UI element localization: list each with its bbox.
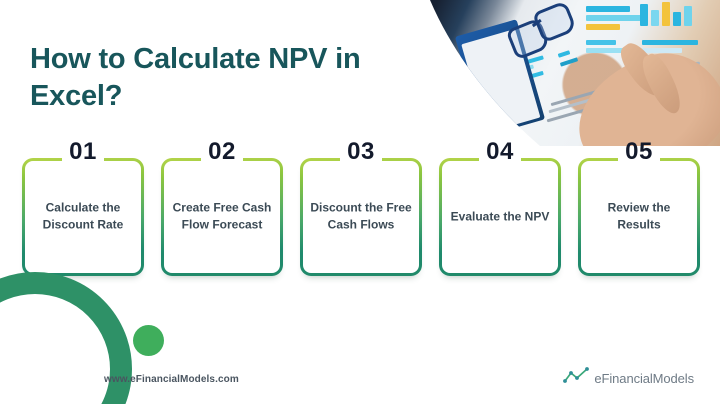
step-label: Discount the Free Cash Flows — [307, 200, 415, 235]
step-number: 03 — [300, 138, 422, 166]
photo-chart-overlay — [390, 0, 720, 146]
brand-name: eFinancialModels — [594, 371, 694, 386]
step-number: 05 — [578, 138, 700, 166]
line-chart-icon — [563, 367, 589, 389]
header-photo — [390, 0, 720, 146]
brand-logo: eFinancialModels — [563, 367, 694, 389]
step-label: Review the Results — [585, 200, 693, 235]
step-number: 04 — [439, 138, 561, 166]
infographic-canvas: How to Calculate NPV in Excel? 01 Calcul… — [0, 0, 720, 404]
step-card[interactable]: 05 Review the Results — [578, 158, 700, 276]
step-number: 01 — [22, 138, 144, 166]
step-card[interactable]: 03 Discount the Free Cash Flows — [300, 158, 422, 276]
step-label: Evaluate the NPV — [446, 208, 554, 225]
steps-row: 01 Calculate the Discount Rate 02 Create… — [22, 158, 700, 276]
step-card[interactable]: 02 Create Free Cash Flow Forecast — [161, 158, 283, 276]
step-label: Create Free Cash Flow Forecast — [168, 200, 276, 235]
eyeglasses-icon — [502, 0, 587, 64]
step-card[interactable]: 01 Calculate the Discount Rate — [22, 158, 144, 276]
step-label: Calculate the Discount Rate — [29, 200, 137, 235]
website-url: www.eFinancialModels.com — [104, 374, 239, 385]
decorative-dot — [133, 325, 164, 356]
step-card[interactable]: 04 Evaluate the NPV — [439, 158, 561, 276]
page-title: How to Calculate NPV in Excel? — [30, 41, 390, 115]
step-number: 02 — [161, 138, 283, 166]
